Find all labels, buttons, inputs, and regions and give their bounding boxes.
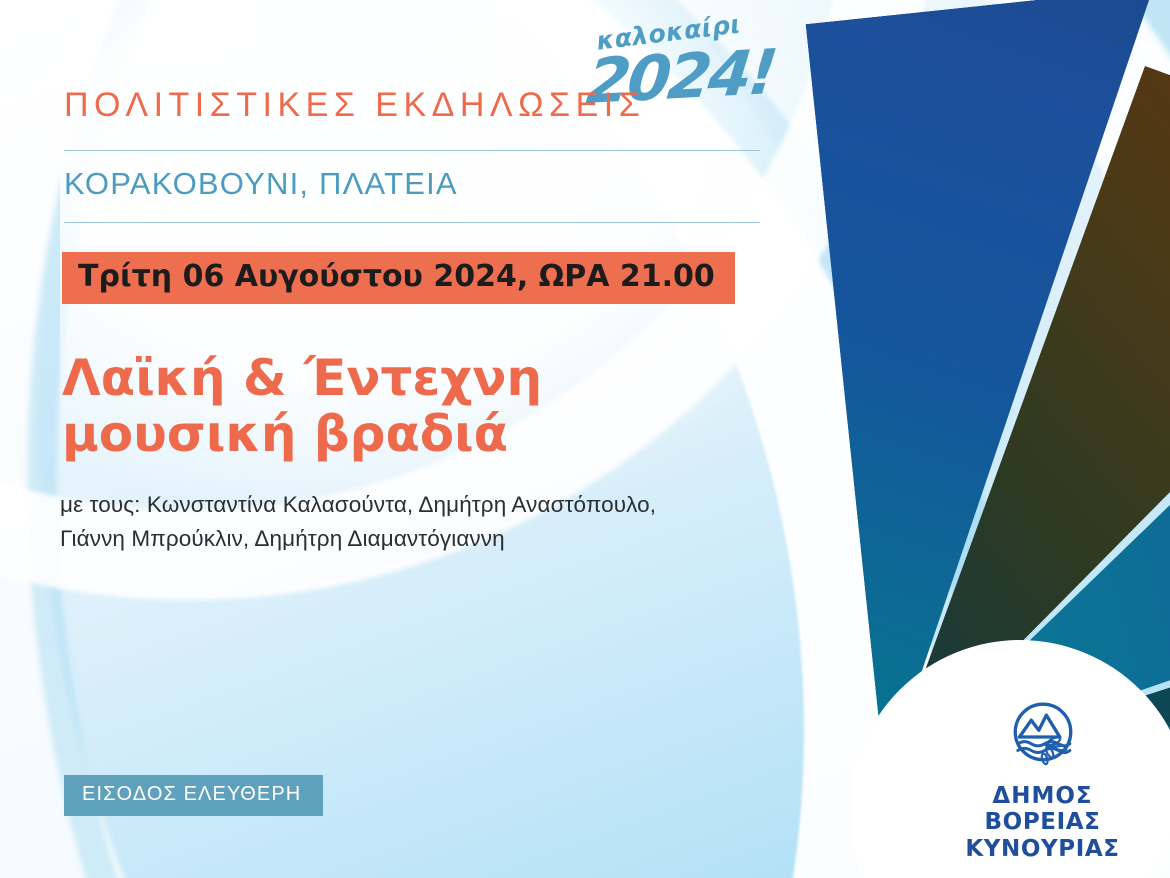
event-title: Λαϊκή & Έντεχνη μουσική βραδιά [62, 350, 542, 462]
poster-content: ΠΟΛΙΤΙΣΤΙΚΕΣ ΕΚΔΗΛΩΣΕΙΣ ΚΟΡΑΚΟΒΟΥΝΙ, ΠΛΑ… [0, 0, 790, 878]
divider-bottom [64, 222, 760, 223]
mountains-waves-olive-branch-emblem [1001, 695, 1085, 779]
municipality-line-1: ΔΗΜΟΣ [935, 783, 1150, 809]
status-badge: ΕΙΣΟΔΟΣ ΕΛΕΥΘΕΡΗ [64, 775, 323, 816]
date-time-text: Τρίτη 06 Αυγούστου 2024, ΩΡΑ 21.00 [78, 261, 715, 293]
municipality-logo: ΔΗΜΟΣ ΒΟΡΕΙΑΣ ΚΥΝΟΥΡΙΑΣ [935, 695, 1150, 862]
page-title: ΠΟΛΙΤΙΣΤΙΚΕΣ ΕΚΔΗΛΩΣΕΙΣ [64, 86, 645, 125]
performers-list: με τους: Κωνσταντίνα Καλασούντα, Δημήτρη… [60, 488, 656, 556]
divider-top [64, 150, 760, 151]
date-time-banner: Τρίτη 06 Αυγούστου 2024, ΩΡΑ 21.00 [62, 252, 735, 304]
event-poster: καλοκαίρι 2024! ΠΟΛΙΤΙΣΤΙΚΕΣ ΕΚΔΗΛΩΣΕΙΣ … [0, 0, 1170, 878]
municipality-line-2: ΒΟΡΕΙΑΣ ΚΥΝΟΥΡΙΑΣ [935, 809, 1150, 862]
venue-label: ΚΟΡΑΚΟΒΟΥΝΙ, ΠΛΑΤΕΙΑ [64, 166, 458, 202]
